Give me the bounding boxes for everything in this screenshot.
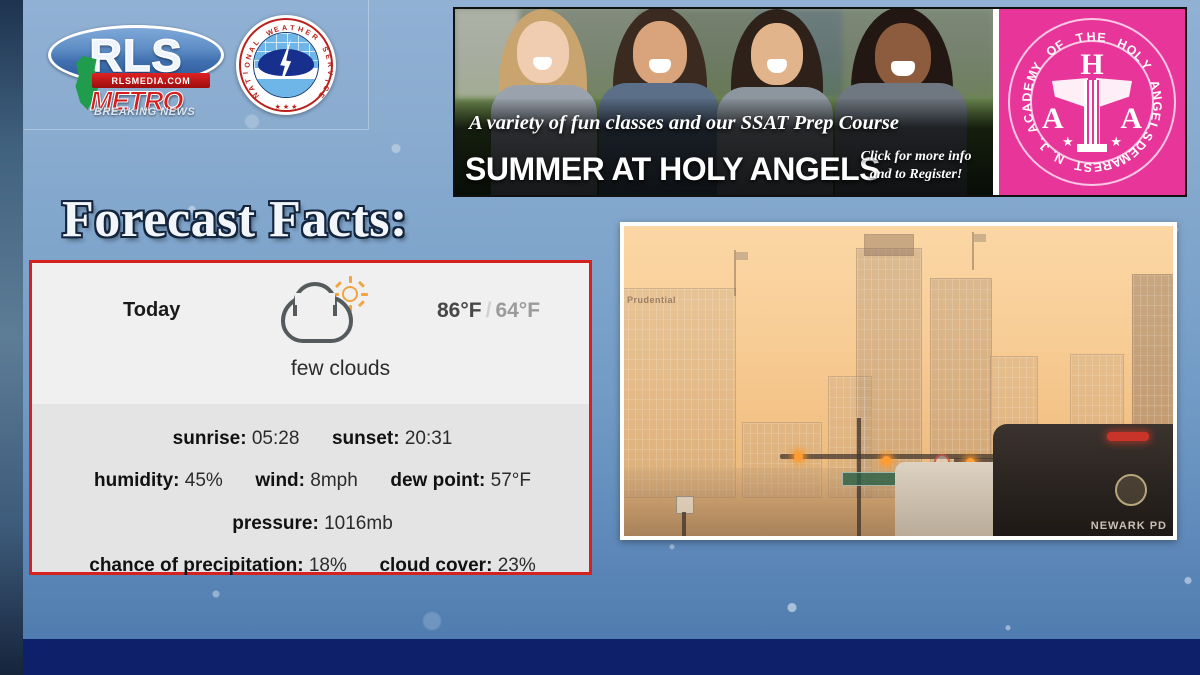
newark-skyline-photo: Prudential NEWARK PD	[620, 222, 1177, 540]
detail-key: cloud cover:	[379, 555, 492, 576]
nws-arc-text: NATIONAL WEATHER SERVICE	[236, 15, 336, 115]
detail-value: 05:28	[252, 428, 300, 449]
temperature-low: 64°F	[495, 299, 540, 322]
detail-key: sunset:	[332, 428, 400, 449]
forecast-details-panel: sunrise: 05:28 sunset: 20:31 humidity: 4…	[32, 404, 589, 572]
temperature-range: 86°F/64°F	[437, 299, 540, 323]
national-weather-service-seal[interactable]: NATIONAL WEATHER SERVICE ★ ★ ★	[236, 15, 336, 115]
rls-tagline-text: BREAKING NEWS	[94, 106, 234, 118]
ad-cta-line-2: and to Register!	[851, 166, 981, 184]
ad-school-seal-panel[interactable]: ACADEMY OF THE HOLY ANGELS DEMAREST N.J.…	[993, 9, 1185, 195]
ad-photograph: A variety of fun classes and our SSAT Pr…	[455, 9, 993, 195]
detail-value: 18%	[309, 555, 347, 576]
detail-key: humidity:	[94, 470, 180, 491]
detail-key: sunrise:	[173, 428, 247, 449]
detail-row: humidity: 45% wind: 8mph dew point: 57°F	[32, 466, 589, 495]
detail-value: 8mph	[310, 470, 358, 491]
forecast-card: Today	[29, 260, 592, 575]
ad-cta-line-1: Click for more info	[851, 148, 981, 166]
temperature-high: 86°F	[437, 299, 482, 322]
sign-post	[682, 512, 686, 540]
left-edge-strip	[0, 0, 23, 675]
street-name-sign	[842, 472, 902, 486]
seal-star-left-icon: ★	[1062, 134, 1074, 150]
detail-value: 1016mb	[324, 513, 393, 534]
detail-row: chance of precipitation: 18% cloud cover…	[32, 551, 589, 580]
vehicle-marking-text: NEWARK PD	[1091, 520, 1167, 532]
building-prudential: Prudential	[620, 288, 736, 498]
detail-value: 57°F	[491, 470, 531, 491]
forecast-day-label: Today	[123, 299, 180, 322]
newark-pd-vehicle: NEWARK PD	[993, 424, 1173, 536]
cloud-join-mask	[295, 293, 335, 305]
branding-panel: RLS RLSMEDIA.COM METRO BREAKING NEWS NAT…	[24, 0, 369, 130]
seal-letter-a-left: A	[1042, 102, 1064, 136]
holy-angels-seal: ACADEMY OF THE HOLY ANGELS DEMAREST N.J.…	[1006, 16, 1178, 188]
page-title: Forecast Facts:	[62, 190, 408, 249]
seal-column-icon	[1084, 80, 1100, 148]
building-label: Prudential	[627, 295, 676, 305]
ad-call-to-action[interactable]: Click for more info and to Register!	[851, 148, 981, 183]
flag-left-icon	[736, 252, 748, 260]
detail-row: sunrise: 05:28 sunset: 20:31	[32, 424, 589, 453]
traffic-light-2	[882, 456, 891, 465]
detail-row: pressure: 1016mb	[32, 509, 589, 538]
slide-stage: RLS RLSMEDIA.COM METRO BREAKING NEWS NAT…	[0, 0, 1200, 675]
detail-value: 20:31	[405, 428, 453, 449]
bottom-navy-bar	[23, 639, 1200, 675]
traffic-light-1	[794, 452, 803, 461]
seal-column-base	[1077, 144, 1107, 152]
white-van	[895, 462, 1005, 536]
detail-key: chance of precipitation:	[89, 555, 303, 576]
nws-stars: ★ ★ ★	[275, 103, 298, 111]
forecast-card-header: Today	[32, 263, 589, 404]
seal-letter-h: H	[1080, 48, 1103, 82]
ad-headline: SUMMER AT HOLY ANGELS	[465, 151, 880, 188]
temperature-separator: /	[482, 299, 496, 322]
police-badge-icon	[1115, 474, 1147, 506]
detail-value: 23%	[498, 555, 536, 576]
cloud-icon	[281, 295, 353, 343]
detail-value: 45%	[185, 470, 223, 491]
detail-key: pressure:	[232, 513, 319, 534]
detail-key: wind:	[255, 470, 305, 491]
condition-description: few clouds	[32, 357, 589, 381]
few-clouds-icon	[275, 277, 375, 349]
ad-tagline: A variety of fun classes and our SSAT Pr…	[469, 112, 969, 135]
advertisement-banner[interactable]: A variety of fun classes and our SSAT Pr…	[453, 7, 1187, 197]
detail-key: dew point:	[390, 470, 485, 491]
emergency-light-bar	[1107, 432, 1149, 441]
seal-star-right-icon: ★	[1110, 134, 1122, 150]
building-tower-crown	[864, 234, 914, 256]
flag-right-icon	[974, 234, 986, 242]
seal-letter-a-right: A	[1120, 102, 1142, 136]
rls-media-logo[interactable]: RLS RLSMEDIA.COM METRO BREAKING NEWS	[46, 12, 226, 117]
